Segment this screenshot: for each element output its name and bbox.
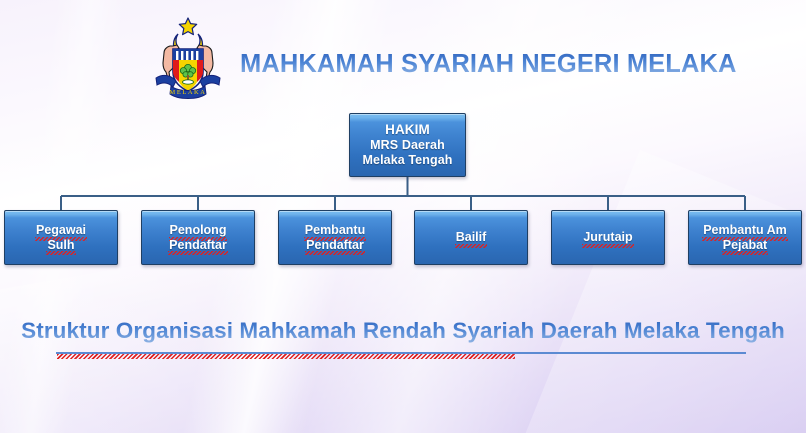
node-pembantu-pendaftar-line1: Pembantu [305, 223, 365, 238]
node-hakim-line1: HAKIM [363, 122, 453, 138]
node-pembantu-pendaftar[interactable]: Pembantu Pendaftar [278, 210, 392, 265]
node-hakim-line2: MRS Daerah [363, 138, 453, 153]
node-pembantu-am-pejabat-label: Pembantu Am Pejabat [703, 223, 787, 253]
node-pembantu-pendaftar-line2: Pendaftar [306, 238, 364, 253]
node-pembantu-pendaftar-label: Pembantu Pendaftar [305, 223, 365, 253]
node-pembantu-am-pejabat-line1: Pembantu Am [703, 223, 787, 238]
node-bailif-label: Bailif [456, 230, 487, 245]
node-pegawai-sulh-line1: Pegawai [36, 223, 86, 238]
node-hakim-line3: Melaka Tengah [363, 153, 453, 168]
node-penolong-pendaftar[interactable]: Penolong Pendaftar [141, 210, 255, 265]
chart-caption-text: Struktur Organisasi Mahkamah Rendah Syar… [21, 318, 785, 344]
node-penolong-pendaftar-label: Penolong Pendaftar [169, 223, 227, 253]
node-jurutaip-line1: Jurutaip [583, 230, 632, 245]
node-bailif-line1: Bailif [456, 230, 487, 245]
node-hakim[interactable]: HAKIM MRS Daerah Melaka Tengah [349, 113, 466, 177]
node-jurutaip[interactable]: Jurutaip [551, 210, 665, 265]
node-bailif[interactable]: Bailif [414, 210, 528, 265]
node-pegawai-sulh-label: Pegawai Sulh [36, 223, 86, 253]
chart-caption-spellcheck-squiggle [57, 354, 515, 359]
node-pegawai-sulh-line2: Sulh [47, 238, 74, 253]
node-penolong-pendaftar-line1: Penolong [170, 223, 227, 238]
node-jurutaip-label: Jurutaip [583, 230, 632, 245]
node-pembantu-am-pejabat[interactable]: Pembantu Am Pejabat [688, 210, 802, 265]
node-penolong-pendaftar-line2: Pendaftar [169, 238, 227, 253]
org-chart: HAKIM MRS Daerah Melaka Tengah Pegawai S… [0, 0, 806, 300]
node-pegawai-sulh[interactable]: Pegawai Sulh [4, 210, 118, 265]
slide-canvas: MELAKA MAHKAMAH SYARIAH NEGERI MELAKA [0, 0, 806, 433]
chart-caption: Struktur Organisasi Mahkamah Rendah Syar… [0, 318, 806, 344]
node-pembantu-am-pejabat-line2: Pejabat [723, 238, 767, 253]
node-hakim-label: HAKIM MRS Daerah Melaka Tengah [363, 122, 453, 167]
